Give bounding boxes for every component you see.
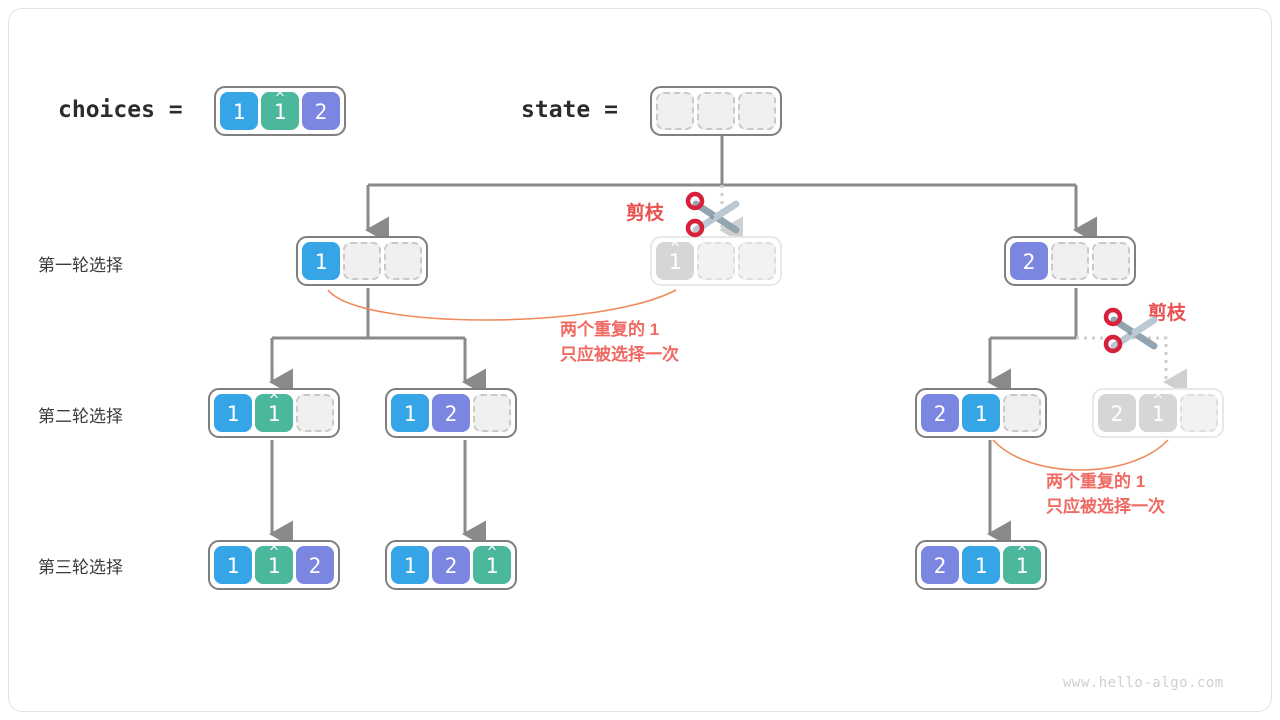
node-round2-2: 12: [385, 388, 517, 438]
cell: ^1: [1139, 394, 1177, 432]
cell: 1: [962, 546, 1000, 584]
note-left: 两个重复的 1 只应被选择一次: [560, 318, 679, 367]
duplicate-marker-icon: ^: [261, 91, 299, 106]
duplicate-marker-icon: ^: [473, 545, 511, 560]
row-label-round2: 第二轮选择: [38, 402, 123, 427]
cell: 2: [296, 546, 334, 584]
cell-value: 2: [315, 99, 328, 123]
note-left-line2: 只应被选择一次: [560, 343, 679, 368]
node-round2-1: 1^1: [208, 388, 340, 438]
duplicate-marker-icon: ^: [656, 241, 694, 256]
state-array: [650, 86, 782, 136]
cell: 2: [432, 546, 470, 584]
cell: [384, 242, 422, 280]
prune-label-left: 剪枝: [626, 198, 664, 225]
note-right-line1: 两个重复的 1: [1046, 470, 1165, 495]
cell: 1: [214, 546, 252, 584]
cell-value: 1: [227, 401, 240, 425]
cell: [697, 92, 735, 130]
cell-value: 1: [404, 553, 417, 577]
cell-value: 2: [445, 553, 458, 577]
node-round2-3: 21: [915, 388, 1047, 438]
state-label: state =: [521, 97, 618, 123]
node-round2-4-pruned: 2^1: [1092, 388, 1224, 438]
duplicate-marker-icon: ^: [255, 545, 293, 560]
diagram-canvas: choices = 1^12 state = 第一轮选择 第二轮选择 第三轮选择…: [0, 0, 1280, 720]
choices-array: 1^12: [214, 86, 346, 136]
prune-label-right: 剪枝: [1148, 298, 1186, 325]
cell-value: 1: [227, 553, 240, 577]
node-round3-3: 21^1: [915, 540, 1047, 590]
cell: 1: [302, 242, 340, 280]
cell-value: 1: [315, 249, 328, 273]
cell-value: 1: [233, 99, 246, 123]
cell: [343, 242, 381, 280]
row-label-round1: 第一轮选择: [38, 251, 123, 276]
cell: ^1: [656, 242, 694, 280]
cell-value: 1: [975, 553, 988, 577]
note-right: 两个重复的 1 只应被选择一次: [1046, 470, 1165, 519]
cell-value: 1: [975, 401, 988, 425]
cell: ^1: [473, 546, 511, 584]
cell-value: 2: [445, 401, 458, 425]
cell: 1: [214, 394, 252, 432]
cell-value: 2: [1023, 249, 1036, 273]
duplicate-marker-icon: ^: [1003, 545, 1041, 560]
cell: 2: [921, 546, 959, 584]
cell: 1: [220, 92, 258, 130]
cell: [1051, 242, 1089, 280]
node-round3-2: 12^1: [385, 540, 517, 590]
cell: [738, 242, 776, 280]
cell: [1003, 394, 1041, 432]
cell: [296, 394, 334, 432]
cell-value: 2: [309, 553, 322, 577]
row-label-round3: 第三轮选择: [38, 553, 123, 578]
node-round1-3: 2: [1004, 236, 1136, 286]
cell: 2: [921, 394, 959, 432]
cell: 1: [962, 394, 1000, 432]
note-left-line1: 两个重复的 1: [560, 318, 679, 343]
cell: 1: [391, 546, 429, 584]
cell: [697, 242, 735, 280]
cell: [738, 92, 776, 130]
cell: ^1: [255, 546, 293, 584]
cell: ^1: [1003, 546, 1041, 584]
cell: 2: [302, 92, 340, 130]
cell: 2: [432, 394, 470, 432]
cell-value: 1: [404, 401, 417, 425]
note-right-line2: 只应被选择一次: [1046, 495, 1165, 520]
cell: [473, 394, 511, 432]
duplicate-marker-icon: ^: [255, 393, 293, 408]
cell: ^1: [255, 394, 293, 432]
cell-value: 2: [1111, 401, 1124, 425]
node-round3-1: 1^12: [208, 540, 340, 590]
cell: [1180, 394, 1218, 432]
cell: [656, 92, 694, 130]
cell: ^1: [261, 92, 299, 130]
node-round1-1: 1: [296, 236, 428, 286]
duplicate-marker-icon: ^: [1139, 393, 1177, 408]
cell: [1092, 242, 1130, 280]
cell: 1: [391, 394, 429, 432]
watermark: www.hello-algo.com: [1063, 675, 1224, 691]
cell: 2: [1010, 242, 1048, 280]
cell-value: 2: [934, 401, 947, 425]
cell: 2: [1098, 394, 1136, 432]
cell-value: 2: [934, 553, 947, 577]
node-round1-2-pruned: ^1: [650, 236, 782, 286]
choices-label: choices =: [58, 97, 183, 123]
